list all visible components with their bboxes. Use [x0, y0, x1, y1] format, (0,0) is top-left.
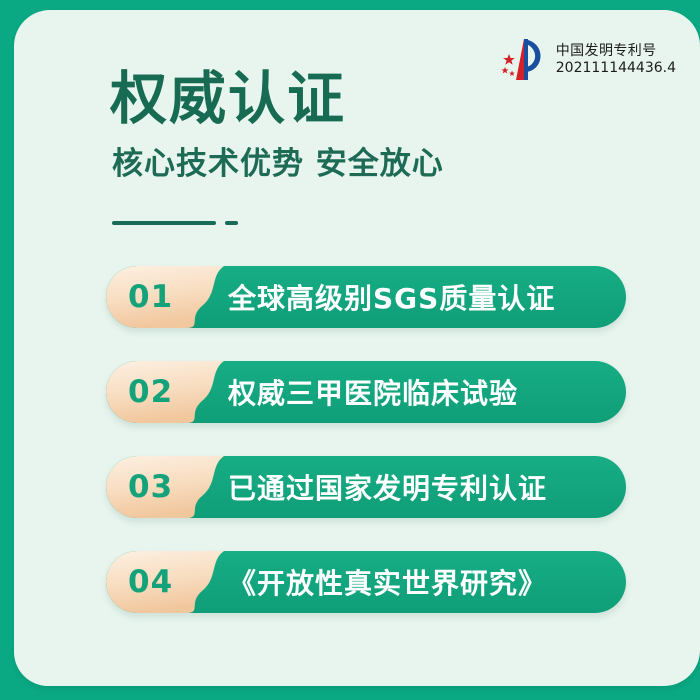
item-label: 全球高级别SGS质量认证 — [228, 266, 555, 328]
list-item[interactable]: 01全球高级别SGS质量认证 — [106, 266, 626, 328]
divider-segment-short — [225, 221, 238, 225]
heading-block: 权威认证 核心技术优势 安全放心 — [110, 70, 444, 181]
divider-segment-long — [112, 221, 216, 225]
item-label: 权威三甲医院临床试验 — [228, 361, 518, 423]
item-label: 已通过国家发明专利认证 — [228, 456, 547, 518]
list-item[interactable]: 02权威三甲医院临床试验 — [106, 361, 626, 423]
patent-label: 中国发明专利号 — [556, 43, 676, 60]
item-label: 《开放性真实世界研究》 — [228, 551, 547, 613]
patent-badge: 中国发明专利号 202111144436.4 — [497, 34, 676, 86]
divider — [112, 221, 238, 225]
item-number: 02 — [128, 361, 173, 423]
item-number: 01 — [128, 266, 173, 328]
patent-emblem-icon — [497, 34, 549, 86]
page-title: 权威认证 — [110, 70, 444, 130]
patent-text: 中国发明专利号 202111144436.4 — [556, 43, 676, 77]
patent-number: 202111144436.4 — [556, 60, 676, 77]
certification-list: 01全球高级别SGS质量认证02权威三甲医院临床试验03已通过国家发明专利认证0… — [106, 266, 626, 613]
content-card: 中国发明专利号 202111144436.4 权威认证 核心技术优势 安全放心 … — [14, 10, 700, 686]
page-subtitle: 核心技术优势 安全放心 — [112, 147, 444, 181]
list-item[interactable]: 03已通过国家发明专利认证 — [106, 456, 626, 518]
list-item[interactable]: 04《开放性真实世界研究》 — [106, 551, 626, 613]
poster-root: 中国发明专利号 202111144436.4 权威认证 核心技术优势 安全放心 … — [0, 0, 700, 700]
item-number: 03 — [128, 456, 173, 518]
item-number: 04 — [128, 551, 173, 613]
